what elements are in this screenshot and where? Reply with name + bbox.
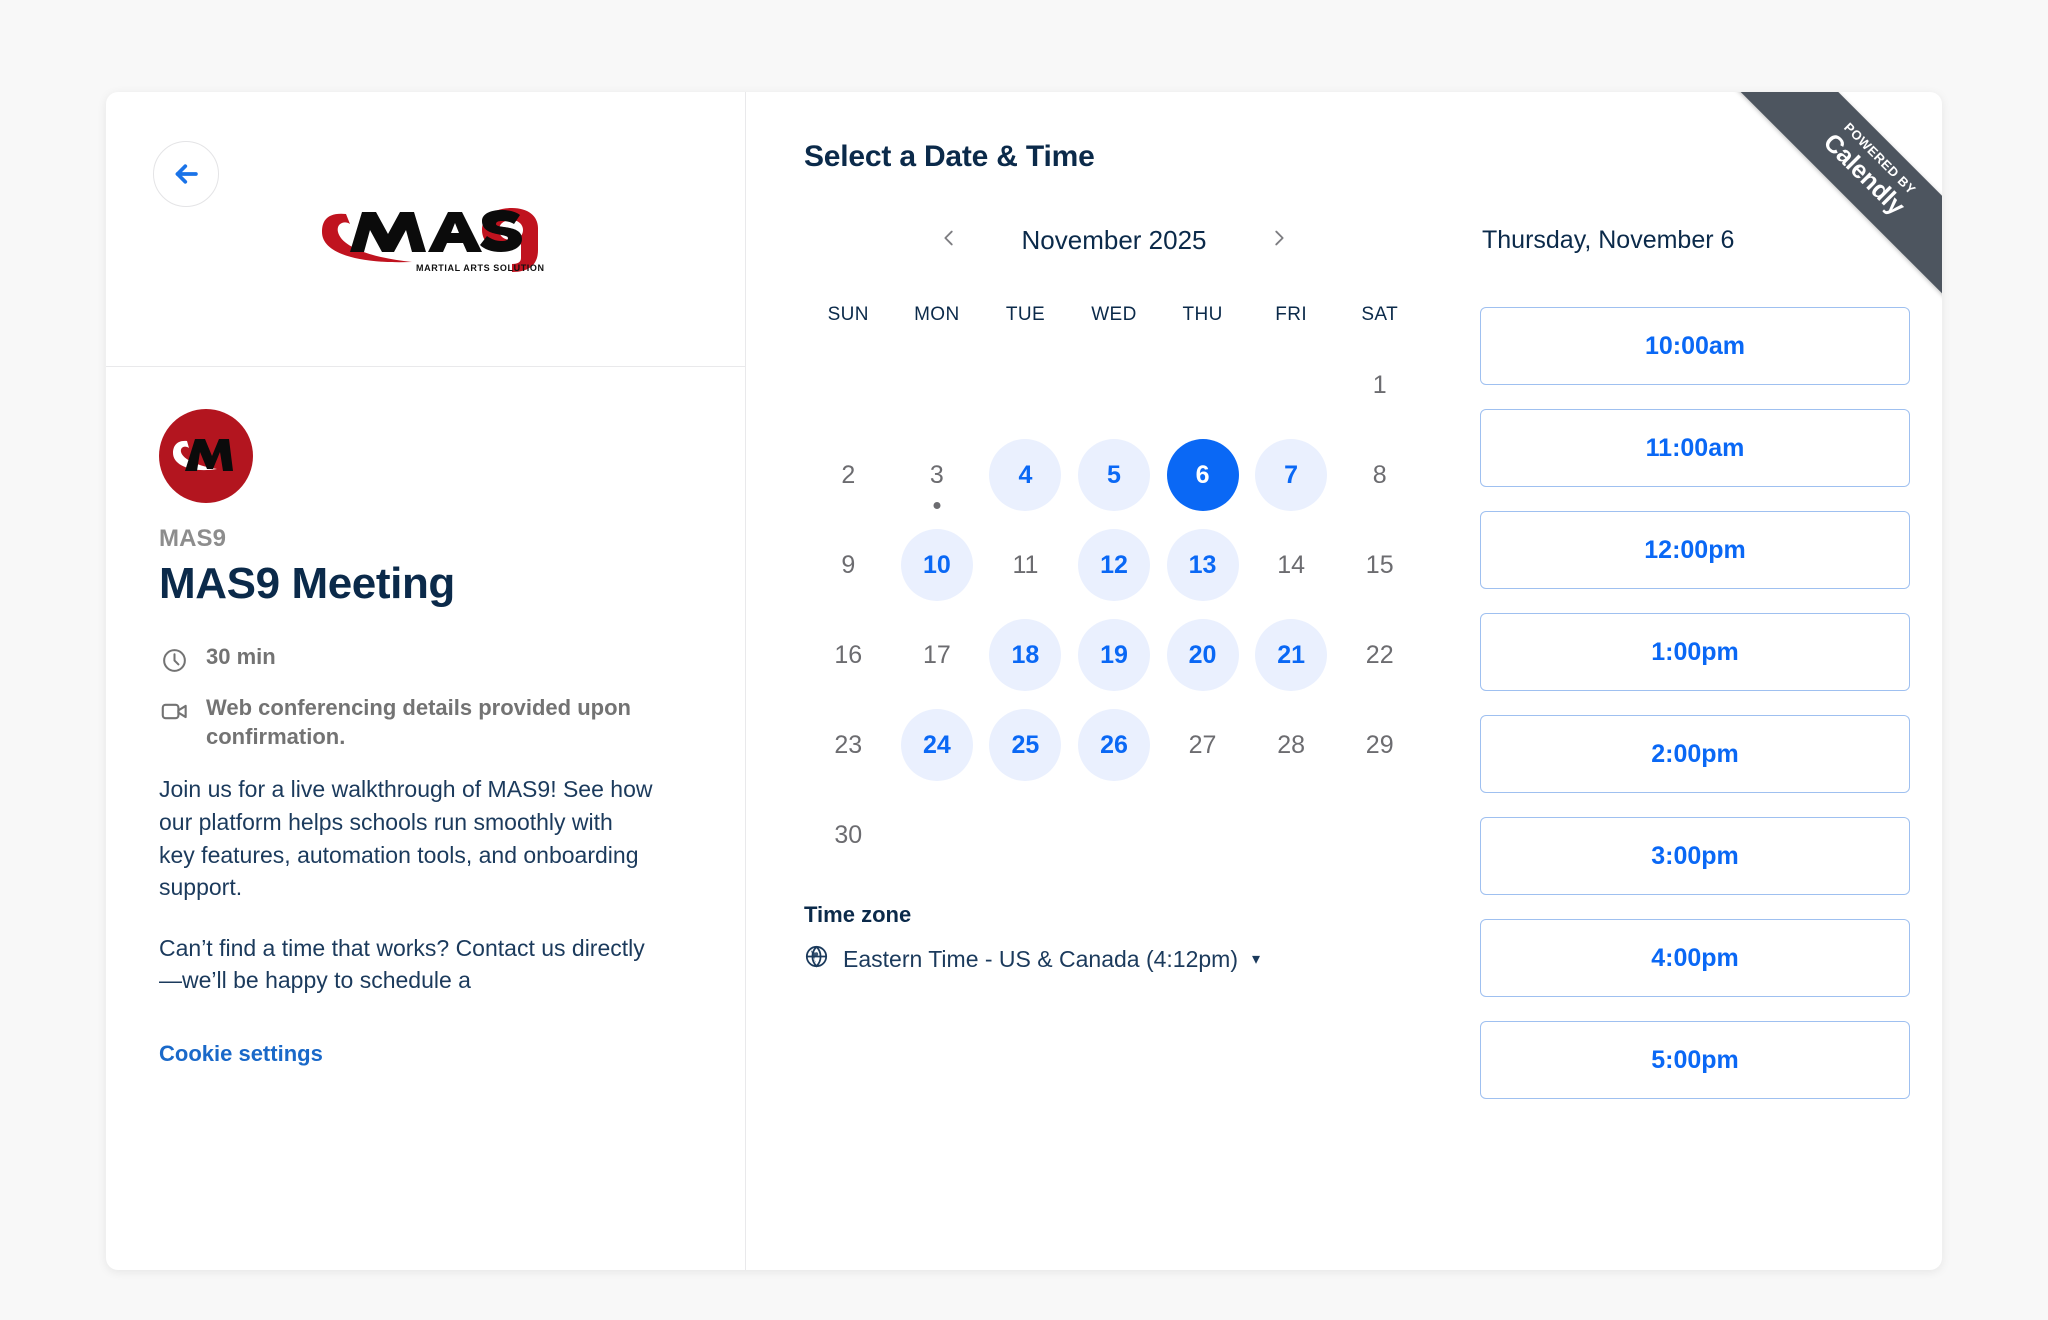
calendar: November 2025 SUNMONTUEWEDTHUFRISAT 1234… [804,216,1424,1123]
calendar-day-22: 22 [1344,619,1416,691]
day-cell: 15 [1335,520,1424,610]
duration-row: 30 min [159,643,669,675]
brand-area: MARTIAL ARTS SOLUTION 9 [106,92,745,367]
selected-date-heading: Thursday, November 6 [1480,216,1910,264]
time-slot-1:00pm[interactable]: 1:00pm [1480,613,1910,691]
today-dot [933,502,940,509]
weekday-fri: FRI [1247,304,1336,326]
day-cell: 17 [893,610,982,700]
calendar-day-6[interactable]: 6 [1167,439,1239,511]
description-paragraph-2: Can’t find a time that works? Contact us… [159,932,654,997]
timezone-block: Time zone Eastern Time - US & Canada (4:… [804,902,1424,974]
day-cell: 23 [804,700,893,790]
day-cell: 5 [1070,430,1159,520]
back-button[interactable] [153,141,219,207]
avatar [159,409,253,503]
calendar-day-27: 27 [1167,709,1239,781]
day-cell: 9 [804,520,893,610]
day-cell: 26 [1070,700,1159,790]
mas9-logo: MARTIAL ARTS SOLUTION 9 [316,202,546,274]
calendar-day-23: 23 [812,709,884,781]
day-cell-empty [1070,340,1159,430]
calendar-day-4[interactable]: 4 [989,439,1061,511]
svg-text:MARTIAL ARTS SOLUTION 9: MARTIAL ARTS SOLUTION 9 [416,263,546,273]
time-slot-11:00am[interactable]: 11:00am [1480,409,1910,487]
calendar-day-16: 16 [812,619,884,691]
event-info: MAS9 MAS9 Meeting 30 min [106,367,745,1270]
clock-icon [159,645,189,675]
calendar-day-9: 9 [812,529,884,601]
timezone-label: Time zone [804,902,1424,928]
month-label: November 2025 [999,225,1229,256]
event-meta-list: 30 min Web conferencing details provided… [159,643,745,751]
event-details-panel: MARTIAL ARTS SOLUTION 9 MAS9 MAS9 Meetin… [106,92,746,1270]
day-cell: 12 [1070,520,1159,610]
scheduler-body: November 2025 SUNMONTUEWEDTHUFRISAT 1234… [804,216,1942,1123]
day-cell-empty [981,340,1070,430]
weekday-header: SUNMONTUEWEDTHUFRISAT [804,304,1424,326]
prev-month-button[interactable] [929,220,969,260]
calendar-day-30: 30 [812,799,884,871]
day-cell: 20 [1158,610,1247,700]
calendar-day-20[interactable]: 20 [1167,619,1239,691]
time-slot-12:00pm[interactable]: 12:00pm [1480,511,1910,589]
calendar-day-25[interactable]: 25 [989,709,1061,781]
time-slots-column: Thursday, November 6 10:00am11:00am12:00… [1480,216,1910,1123]
weekday-wed: WED [1070,304,1159,326]
time-slot-list: 10:00am11:00am12:00pm1:00pm2:00pm3:00pm4… [1480,307,1910,1099]
calendar-day-10[interactable]: 10 [901,529,973,601]
video-camera-icon [159,696,189,726]
calendar-day-12[interactable]: 12 [1078,529,1150,601]
calendar-day-3: 3 [901,439,973,511]
page-title: Select a Date & Time [804,140,1942,174]
day-cell: 28 [1247,700,1336,790]
chevron-left-icon [938,227,960,254]
booking-page: MARTIAL ARTS SOLUTION 9 MAS9 MAS9 Meetin… [0,0,2048,1320]
calendar-day-5[interactable]: 5 [1078,439,1150,511]
cookie-settings-link[interactable]: Cookie settings [159,1041,323,1067]
day-cell: 27 [1158,700,1247,790]
day-cell: 8 [1335,430,1424,520]
weekday-sat: SAT [1335,304,1424,326]
duration-label: 30 min [206,643,276,672]
calendar-day-8: 8 [1344,439,1416,511]
timezone-selector[interactable]: Eastern Time - US & Canada (4:12pm) ▾ [804,944,1424,974]
day-cell: 14 [1247,520,1336,610]
day-cell: 18 [981,610,1070,700]
booking-card: MARTIAL ARTS SOLUTION 9 MAS9 MAS9 Meetin… [106,92,1942,1270]
day-cell: 24 [893,700,982,790]
weekday-thu: THU [1158,304,1247,326]
day-cell: 6 [1158,430,1247,520]
calendar-day-2: 2 [812,439,884,511]
time-slot-5:00pm[interactable]: 5:00pm [1480,1021,1910,1099]
chevron-right-icon [1268,227,1290,254]
weekday-mon: MON [893,304,982,326]
time-slot-2:00pm[interactable]: 2:00pm [1480,715,1910,793]
calendar-day-18[interactable]: 18 [989,619,1061,691]
event-description: Join us for a live walkthrough of MAS9! … [159,773,654,997]
calendar-day-24[interactable]: 24 [901,709,973,781]
host-name: MAS9 [159,525,745,553]
day-cell-empty [1158,340,1247,430]
day-cell: 25 [981,700,1070,790]
calendar-day-15: 15 [1344,529,1416,601]
time-slot-10:00am[interactable]: 10:00am [1480,307,1910,385]
calendar-day-7[interactable]: 7 [1255,439,1327,511]
day-cell: 1 [1335,340,1424,430]
day-cell: 2 [804,430,893,520]
day-cell: 21 [1247,610,1336,700]
timezone-value: Eastern Time - US & Canada (4:12pm) [843,946,1238,973]
day-cell: 29 [1335,700,1424,790]
day-cell: 10 [893,520,982,610]
weekday-sun: SUN [804,304,893,326]
chevron-down-icon: ▾ [1252,949,1260,969]
day-cell: 13 [1158,520,1247,610]
day-cell-empty [1247,340,1336,430]
month-navigation: November 2025 [804,216,1424,264]
scheduler-panel: Select a Date & Time November 2025 [746,92,1942,1270]
globe-icon [804,944,829,974]
calendar-day-11: 11 [989,529,1061,601]
calendar-day-21[interactable]: 21 [1255,619,1327,691]
calendar-day-19[interactable]: 19 [1078,619,1150,691]
calendar-day-29: 29 [1344,709,1416,781]
calendar-day-1: 1 [1344,349,1416,421]
calendar-day-17: 17 [901,619,973,691]
day-cell: 11 [981,520,1070,610]
event-title: MAS9 Meeting [159,559,745,609]
conferencing-label: Web conferencing details provided upon c… [206,694,669,751]
day-cell: 16 [804,610,893,700]
calendar-day-26[interactable]: 26 [1078,709,1150,781]
day-cell: 7 [1247,430,1336,520]
day-cell-empty [893,340,982,430]
day-cell-empty [804,340,893,430]
next-month-button[interactable] [1259,220,1299,260]
time-slot-4:00pm[interactable]: 4:00pm [1480,919,1910,997]
day-cell: 4 [981,430,1070,520]
arrow-left-icon [169,157,203,191]
weekday-tue: TUE [981,304,1070,326]
calendar-day-13[interactable]: 13 [1167,529,1239,601]
calendar-day-28: 28 [1255,709,1327,781]
day-cell: 19 [1070,610,1159,700]
time-slot-3:00pm[interactable]: 3:00pm [1480,817,1910,895]
day-cell: 30 [804,790,893,880]
conferencing-row: Web conferencing details provided upon c… [159,694,669,751]
day-cell: 3 [893,430,982,520]
day-cell: 22 [1335,610,1424,700]
description-paragraph-1: Join us for a live walkthrough of MAS9! … [159,773,654,904]
day-grid: 1234567891011121314151617181920212223242… [804,340,1424,880]
calendar-day-14: 14 [1255,529,1327,601]
